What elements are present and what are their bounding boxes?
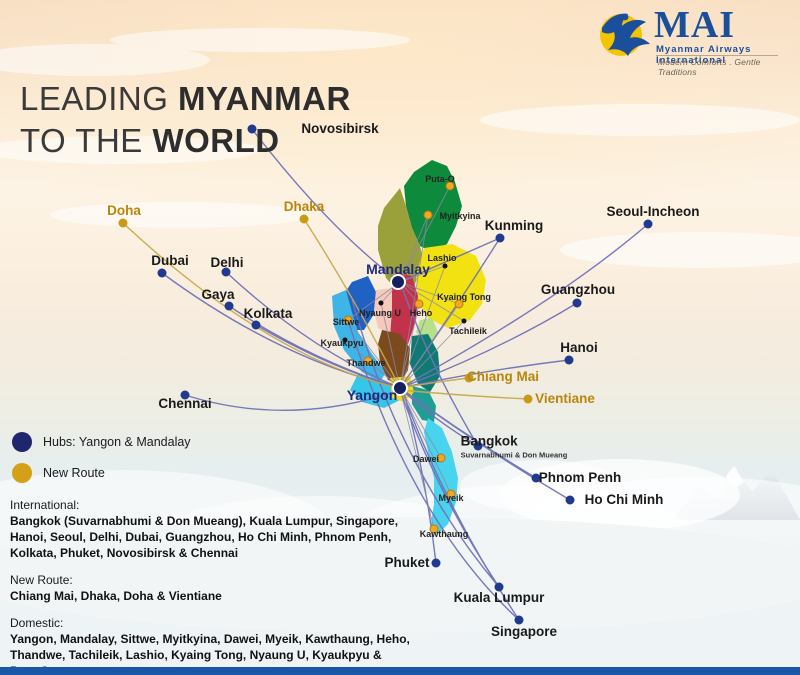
logo-wordmark: MAI	[654, 6, 735, 44]
city-label-tachileik: Tachileik	[449, 321, 487, 339]
city-dot-guangzhou[interactable]	[573, 299, 582, 308]
city-label-vientiane: Vientiane	[535, 390, 595, 408]
city-label-heho: Heho	[410, 303, 433, 321]
city-label-kunming: Kunming	[485, 217, 544, 235]
city-name: Chiang Mai	[467, 369, 539, 384]
headline-line-2: TO THE WORLD	[20, 120, 351, 162]
city-dot-myitkyina[interactable]	[424, 211, 433, 220]
mai-logo: MAI Myanmar Airways International Modern…	[592, 8, 782, 66]
headline-line-1: LEADING MYANMAR	[20, 78, 351, 120]
flying-bird-icon	[594, 8, 656, 64]
city-name: Hanoi	[560, 340, 598, 355]
city-label-nyaung-u: Nyaung U	[359, 303, 401, 321]
city-label-singapore: Singapore	[491, 623, 557, 641]
city-label-hanoi: Hanoi	[560, 339, 598, 357]
city-label-seoul-incheon: Seoul-Incheon	[606, 203, 699, 221]
city-name: Nyaung U	[359, 308, 401, 318]
headline-1-bold: MYANMAR	[178, 80, 351, 117]
city-label-lashio: Lashio	[427, 248, 456, 266]
city-name: Singapore	[491, 624, 557, 639]
legend-item-hubs: Hubs: Yangon & Mandalay	[12, 432, 191, 452]
city-name: Heho	[410, 308, 433, 318]
city-name: Kawthaung	[420, 529, 469, 539]
city-name: Chennai	[158, 396, 211, 411]
city-label-kuala-lumpur: Kuala Lumpur	[454, 589, 545, 607]
city-label-chiang-mai: Chiang Mai	[467, 368, 539, 386]
city-dot-ho-chi-minh[interactable]	[566, 496, 575, 505]
city-name: Kuala Lumpur	[454, 590, 545, 605]
headline-2-light: TO THE	[20, 122, 152, 159]
logo-tagline: Modern Comforts . Gentle Traditions	[658, 57, 782, 77]
city-name: Lashio	[427, 253, 456, 263]
city-label-doha: Doha	[107, 202, 141, 220]
city-name: Sittwe	[333, 317, 360, 327]
route-map-poster: NovosibirskDubaiDelhiGayaKolkataChennaiK…	[0, 0, 800, 675]
city-label-bangkok: BangkokSuvarnabhumi & Don Mueang	[461, 433, 568, 460]
city-label-puta-o: Puta-O	[425, 169, 455, 187]
city-name: Bangkok	[461, 434, 518, 449]
city-label-myeik: Myeik	[438, 488, 463, 506]
city-name: Dubai	[151, 253, 189, 268]
page-title: LEADING MYANMAR TO THE WORLD	[20, 78, 351, 162]
map-legend: Hubs: Yangon & Mandalay New Route	[12, 432, 191, 494]
city-label-dubai: Dubai	[151, 252, 189, 270]
city-name: Mandalay	[366, 261, 430, 277]
city-name: Seoul-Incheon	[606, 204, 699, 219]
legend-label-hubs: Hubs: Yangon & Mandalay	[43, 435, 191, 449]
city-name: Delhi	[210, 255, 243, 270]
city-name: Dawei	[413, 454, 439, 464]
new-route-heading: New Route:	[10, 573, 410, 587]
international-heading: International:	[10, 498, 410, 512]
city-name: Vientiane	[535, 391, 595, 406]
city-label-kawthaung: Kawthaung	[420, 524, 469, 542]
city-label-ho-chi-minh: Ho Chi Minh	[585, 491, 664, 509]
headline-2-bold: WORLD	[152, 122, 279, 159]
city-name: Dhaka	[284, 199, 325, 214]
city-name: Myitkyina	[439, 211, 480, 221]
destination-lists: International: Bangkok (Suvarnabhumi & D…	[10, 498, 410, 675]
bottom-accent-bar	[0, 667, 800, 675]
city-label-mandalay: Mandalay	[366, 261, 430, 279]
hub-dot-icon	[12, 432, 32, 452]
city-name: Kyaukpyu	[320, 338, 363, 348]
city-label-gaya: Gaya	[201, 286, 234, 304]
city-name: Phnom Penh	[539, 470, 622, 485]
city-name: Kyaing Tong	[437, 292, 491, 302]
city-name: Kunming	[485, 218, 544, 233]
city-label-kyaukpyu: Kyaukpyu	[320, 333, 363, 351]
city-label-dhaka: Dhaka	[284, 198, 325, 216]
city-name: Tachileik	[449, 326, 487, 336]
international-list: Bangkok (Suvarnabhumi & Don Mueang), Kua…	[10, 513, 410, 561]
city-label-sittwe: Sittwe	[333, 312, 360, 330]
city-name: Puta-O	[425, 174, 455, 184]
city-name: Thandwe	[346, 358, 385, 368]
city-name: Guangzhou	[541, 282, 615, 297]
city-sublabel: Suvarnabhumi & Don Mueang	[461, 451, 568, 460]
city-name: Doha	[107, 203, 141, 218]
city-label-chennai: Chennai	[158, 395, 211, 413]
city-dot-phuket[interactable]	[432, 559, 441, 568]
city-label-thandwe: Thandwe	[346, 353, 385, 371]
city-label-myitkyina: Myitkyina	[439, 206, 480, 224]
city-label-guangzhou: Guangzhou	[541, 281, 615, 299]
city-name: Yangon	[347, 387, 398, 403]
city-name: Gaya	[201, 287, 234, 302]
city-label-kolkata: Kolkata	[244, 305, 293, 323]
city-label-delhi: Delhi	[210, 254, 243, 272]
domestic-heading: Domestic:	[10, 616, 410, 630]
headline-1-light: LEADING	[20, 80, 178, 117]
city-label-yangon: Yangon	[347, 387, 398, 405]
city-label-dawei: Dawei	[413, 449, 439, 467]
new-route-list: Chiang Mai, Dhaka, Doha & Vientiane	[10, 588, 410, 604]
city-name: Kolkata	[244, 306, 293, 321]
city-label-kyaing-tong: Kyaing Tong	[437, 287, 491, 305]
city-dot-vientiane[interactable]	[524, 395, 533, 404]
new-route-dot-icon	[12, 463, 32, 483]
city-label-phnom-penh: Phnom Penh	[539, 469, 622, 487]
legend-item-new-route: New Route	[12, 463, 191, 483]
city-name: Myeik	[438, 493, 463, 503]
city-name: Ho Chi Minh	[585, 492, 664, 507]
legend-label-new-route: New Route	[43, 466, 105, 480]
